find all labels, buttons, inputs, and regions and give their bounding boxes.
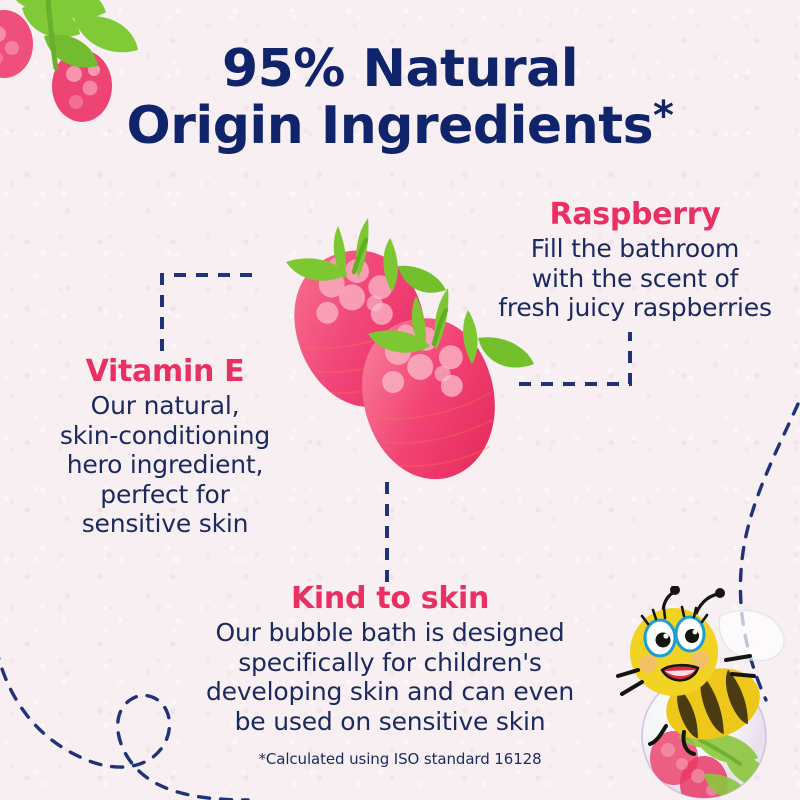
callout-raspberry-body: Fill the bathroom with the scent of fres… — [480, 234, 790, 323]
infographic-canvas: 95% Natural Origin Ingredients* Raspberr… — [0, 0, 800, 800]
callout-raspberry-heading: Raspberry — [480, 198, 790, 231]
callout-vitamin-e-line-2: skin-conditioning — [20, 421, 310, 451]
callout-kind-to-skin-body: Our bubble bath is designed specifically… — [175, 618, 605, 736]
callout-kind-to-skin: Kind to skin Our bubble bath is designed… — [175, 582, 605, 736]
callout-raspberry-line-3: fresh juicy raspberries — [480, 293, 790, 323]
title-asterisk: * — [653, 93, 673, 139]
callout-vitamin-e-line-3: hero ingredient, — [20, 450, 310, 480]
callout-vitamin-e-line-4: perfect for — [20, 480, 310, 510]
callout-kind-to-skin-line-2: specifically for children's — [175, 648, 605, 678]
callout-kind-to-skin-line-4: be used on sensitive skin — [175, 707, 605, 737]
callout-vitamin-e-heading: Vitamin E — [20, 355, 310, 388]
callout-vitamin-e-line-5: sensitive skin — [20, 509, 310, 539]
connector-raspberry — [519, 332, 630, 384]
page-title: 95% Natural Origin Ingredients* — [0, 42, 800, 153]
callout-raspberry-line-1: Fill the bathroom — [480, 234, 790, 264]
callout-raspberry: Raspberry Fill the bathroom with the sce… — [480, 198, 790, 323]
footnote-iso-standard: *Calculated using ISO standard 16128 — [0, 750, 800, 768]
callout-kind-to-skin-line-3: developing skin and can even — [175, 677, 605, 707]
callout-vitamin-e-line-1: Our natural, — [20, 391, 310, 421]
title-line-1: 95% Natural — [0, 42, 800, 96]
connector-vitamin-e — [162, 275, 252, 356]
callout-vitamin-e: Vitamin E Our natural, skin-conditioning… — [20, 355, 310, 539]
callout-kind-to-skin-line-1: Our bubble bath is designed — [175, 618, 605, 648]
callout-raspberry-line-2: with the scent of — [480, 264, 790, 294]
callout-kind-to-skin-heading: Kind to skin — [175, 582, 605, 615]
title-line-2-text: Origin Ingredients — [127, 96, 654, 156]
callout-vitamin-e-body: Our natural, skin-conditioning hero ingr… — [20, 391, 310, 539]
title-line-2: Origin Ingredients* — [0, 96, 800, 153]
